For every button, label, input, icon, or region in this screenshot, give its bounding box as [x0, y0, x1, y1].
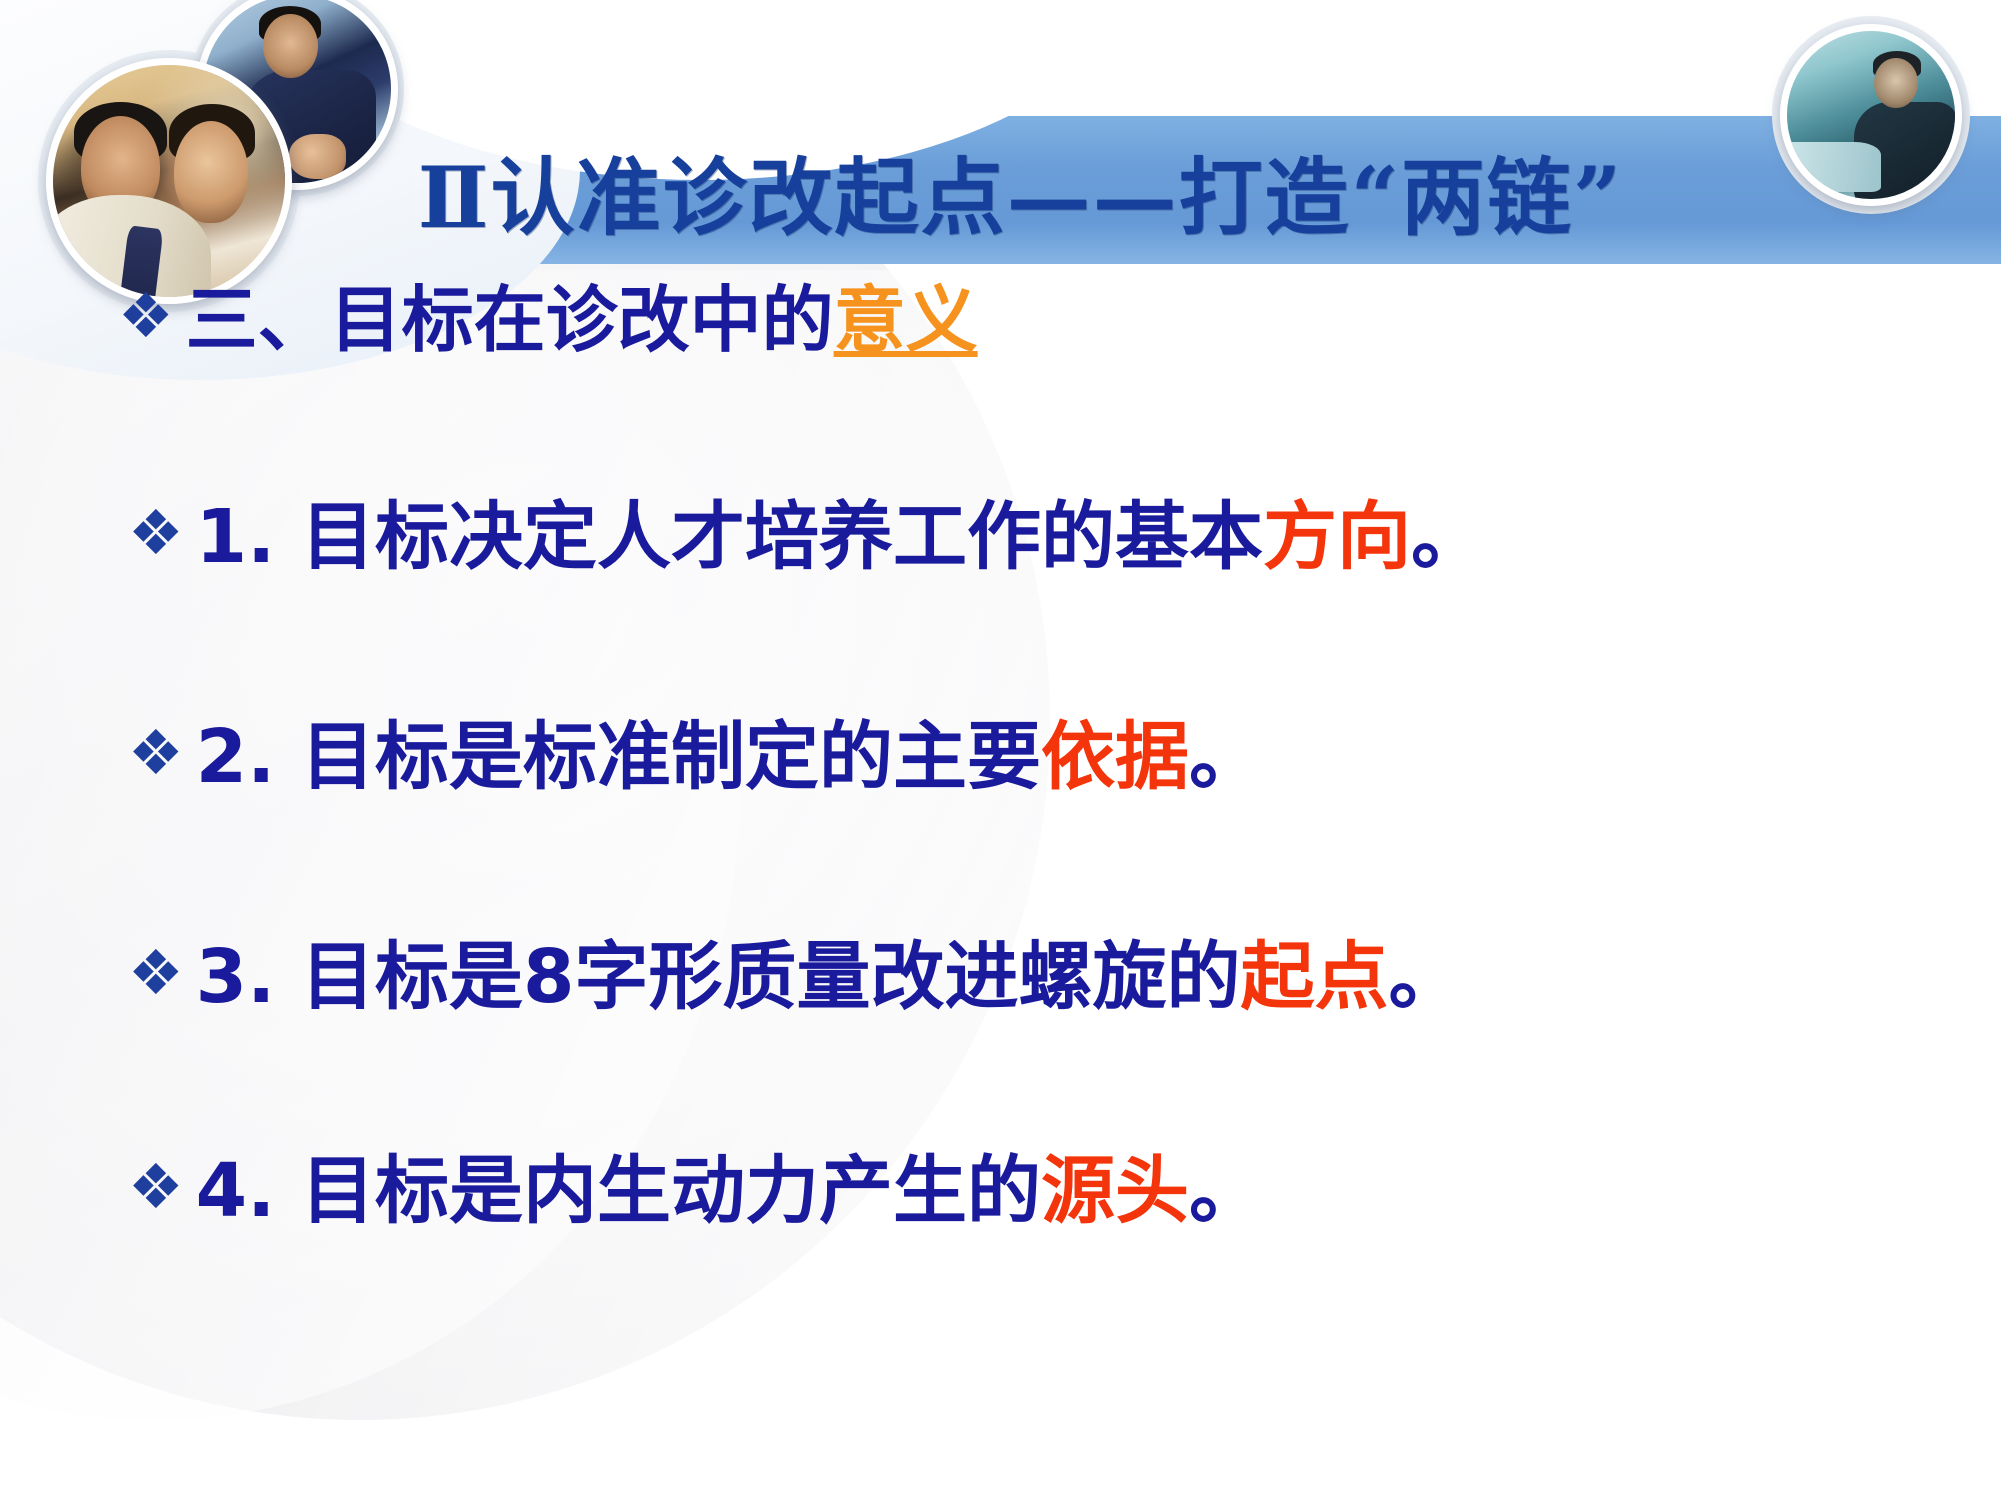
bullet-item-0: ❖ 三、目标在诊改中的 意义 — [118, 284, 978, 356]
bullet-1-text: 1. 目标决定人才培养工作的基本 — [196, 500, 1263, 574]
slide-body: ❖ 三、目标在诊改中的 意义 ❖ 1. 目标决定人才培养工作的基本 方向 。 ❖… — [0, 264, 2001, 1501]
bullet-3-text: 3. 目标是8字形质量改进螺旋的 — [196, 940, 1241, 1014]
bullet-item-4: ❖ 4. 目标是内生动力产生的 源头 。 — [128, 1154, 1263, 1228]
bullet-2-text: 2. 目标是标准制定的主要 — [196, 720, 1041, 794]
diamond-bullet-icon: ❖ — [128, 502, 184, 564]
bullet-4-highlight: 源头 — [1041, 1154, 1189, 1228]
photo-desk-head — [1874, 58, 1918, 108]
bullet-item-1: ❖ 1. 目标决定人才培养工作的基本 方向 。 — [128, 500, 1485, 574]
bullet-0-text: 三、目标在诊改中的 — [186, 284, 834, 356]
photo-handshake-hand — [289, 134, 345, 179]
diamond-bullet-icon: ❖ — [128, 1156, 184, 1218]
bullet-0-highlight: 意义 — [834, 284, 978, 356]
diamond-bullet-icon: ❖ — [118, 285, 174, 347]
bullet-2-period: 。 — [1189, 720, 1263, 794]
photo-circle-man-at-desk — [1780, 24, 1962, 206]
bullet-1-highlight: 方向 — [1263, 500, 1411, 574]
bullet-item-2: ❖ 2. 目标是标准制定的主要 依据 。 — [128, 720, 1263, 794]
diamond-bullet-icon: ❖ — [128, 942, 184, 1004]
bullet-4-period: 。 — [1189, 1154, 1263, 1228]
bullet-3-period: 。 — [1388, 940, 1462, 1014]
bullet-2-highlight: 依据 — [1041, 720, 1189, 794]
bullet-1-period: 。 — [1411, 500, 1485, 574]
bullet-item-3: ❖ 3. 目标是8字形质量改进螺旋的 起点 。 — [128, 940, 1462, 1014]
photo-computer-head-right — [174, 121, 248, 223]
photo-desk-surface — [1780, 142, 1881, 192]
slide-title-text: Ⅱ认准诊改起点——打造“两链” — [418, 131, 1623, 252]
bullet-4-text: 4. 目标是内生动力产生的 — [196, 1154, 1041, 1228]
bullet-3-highlight: 起点 — [1240, 940, 1388, 1014]
diamond-bullet-icon: ❖ — [128, 722, 184, 784]
slide-canvas: Ⅱ认准诊改起点——打造“两链” ❖ 三、目标在诊改中的 意义 — [0, 0, 2001, 1501]
